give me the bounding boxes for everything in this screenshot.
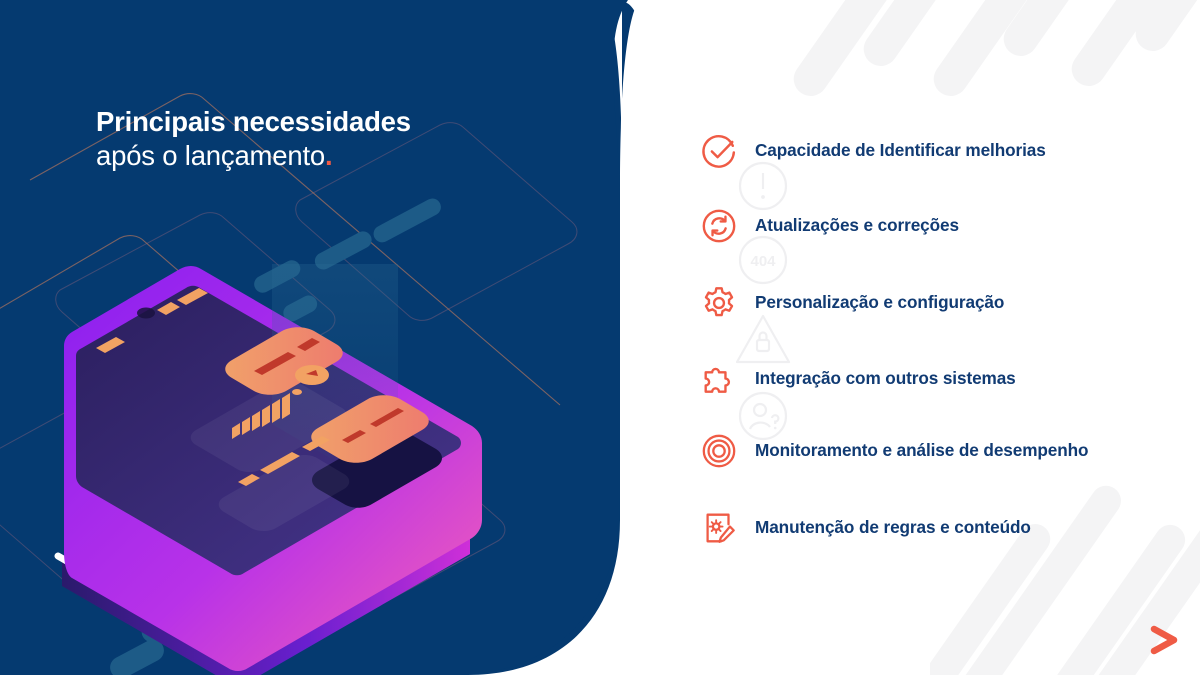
list-item[interactable]: Capacidade de Identificar melhorias: [700, 132, 1046, 170]
list-item-label: Integração com outros sistemas: [755, 360, 1016, 390]
list-item[interactable]: Personalização e configuração: [700, 284, 1004, 322]
list-item-label: Monitoramento e análise de desempenho: [755, 432, 1088, 462]
document-gear-pencil-icon: [700, 509, 738, 547]
page-title: Principais necessidades após o lançament…: [96, 105, 411, 172]
title-accent-dot: .: [325, 140, 332, 171]
navy-panel-clean: [0, 0, 1200, 675]
slide-root: Principais necessidades após o lançament…: [0, 0, 1200, 675]
list-item-label: Capacidade de Identificar melhorias: [755, 132, 1046, 162]
title-regular-text: após o lançamento: [96, 140, 325, 171]
list-item-label: Manutenção de regras e conteúdo: [755, 509, 1031, 539]
puzzle-piece-icon: [700, 360, 738, 398]
list-item-label: Atualizações e correções: [755, 207, 959, 237]
list-item-label: Personalização e configuração: [755, 284, 1004, 314]
title-line-regular: após o lançamento.: [96, 139, 411, 173]
title-line-bold: Principais necessidades: [96, 105, 411, 139]
check-circle-icon: [700, 132, 738, 170]
list-item[interactable]: Integração com outros sistemas: [700, 360, 1016, 398]
list-item[interactable]: Monitoramento e análise de desempenho: [700, 432, 1088, 470]
target-icon: [700, 432, 738, 470]
chevron-right-arrow-icon: [1148, 623, 1182, 657]
refresh-circle-icon: [700, 207, 738, 245]
list-item[interactable]: Manutenção de regras e conteúdo: [700, 509, 1031, 547]
gear-icon: [700, 284, 738, 322]
list-item[interactable]: Atualizações e correções: [700, 207, 959, 245]
